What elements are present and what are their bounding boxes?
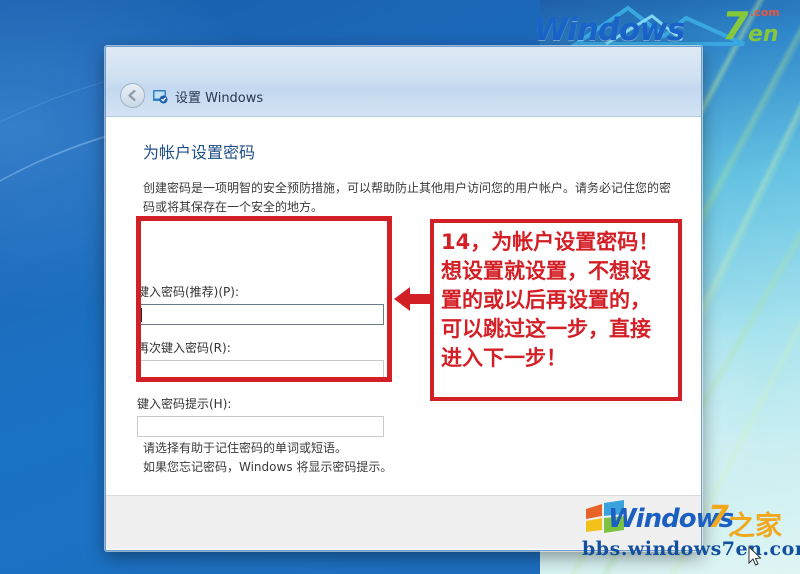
- confirm-password-label: 再次键入密码(R):: [137, 339, 394, 356]
- left-arrow-icon: [392, 277, 436, 321]
- password-hint-input[interactable]: [137, 416, 384, 437]
- dialog-titlebar: 设置 Windows: [106, 47, 701, 117]
- page-title: 为帐户设置密码: [143, 139, 255, 163]
- password-hint-label: 键入密码提示(H):: [137, 395, 394, 412]
- back-button[interactable]: [120, 83, 145, 108]
- page-description: 创建密码是一项明智的安全预防措施，可以帮助防止其他用户访问您的用户帐户。请务必记…: [143, 179, 678, 217]
- hint-line-2: 如果您忘记密码，Windows 将显示密码提示。: [143, 458, 392, 477]
- password-label: 键入密码(推荐)(P):: [137, 283, 394, 300]
- confirm-password-input[interactable]: [137, 360, 384, 381]
- password-form: 键入密码(推荐)(P): 再次键入密码(R): 键入密码提示(H):: [137, 283, 394, 451]
- desktop-screen: Windows 7 en .com 设置 Windows 为帐户设置密码 创建密…: [0, 0, 800, 574]
- mouse-pointer-icon: [748, 546, 762, 568]
- back-arrow-icon: [125, 88, 140, 103]
- annotation-note: 14，为帐户设置密码！想设置就设置，不想设置的或以后再设置的，可以跳过这一步，直…: [430, 219, 682, 401]
- hint-line-1: 请选择有助于记住密码的单词或短语。: [143, 439, 392, 458]
- annotation-text: 14，为帐户设置密码！想设置就设置，不想设置的或以后再设置的，可以跳过这一步，直…: [441, 228, 671, 373]
- hint-text: 请选择有助于记住密码的单词或短语。 如果您忘记密码，Windows 将显示密码提…: [143, 439, 392, 477]
- dialog-title: 设置 Windows: [175, 87, 263, 106]
- text-caret: [141, 308, 142, 322]
- dialog-footer: [106, 495, 701, 549]
- windows-setup-icon: [152, 88, 168, 104]
- password-input[interactable]: [137, 304, 384, 325]
